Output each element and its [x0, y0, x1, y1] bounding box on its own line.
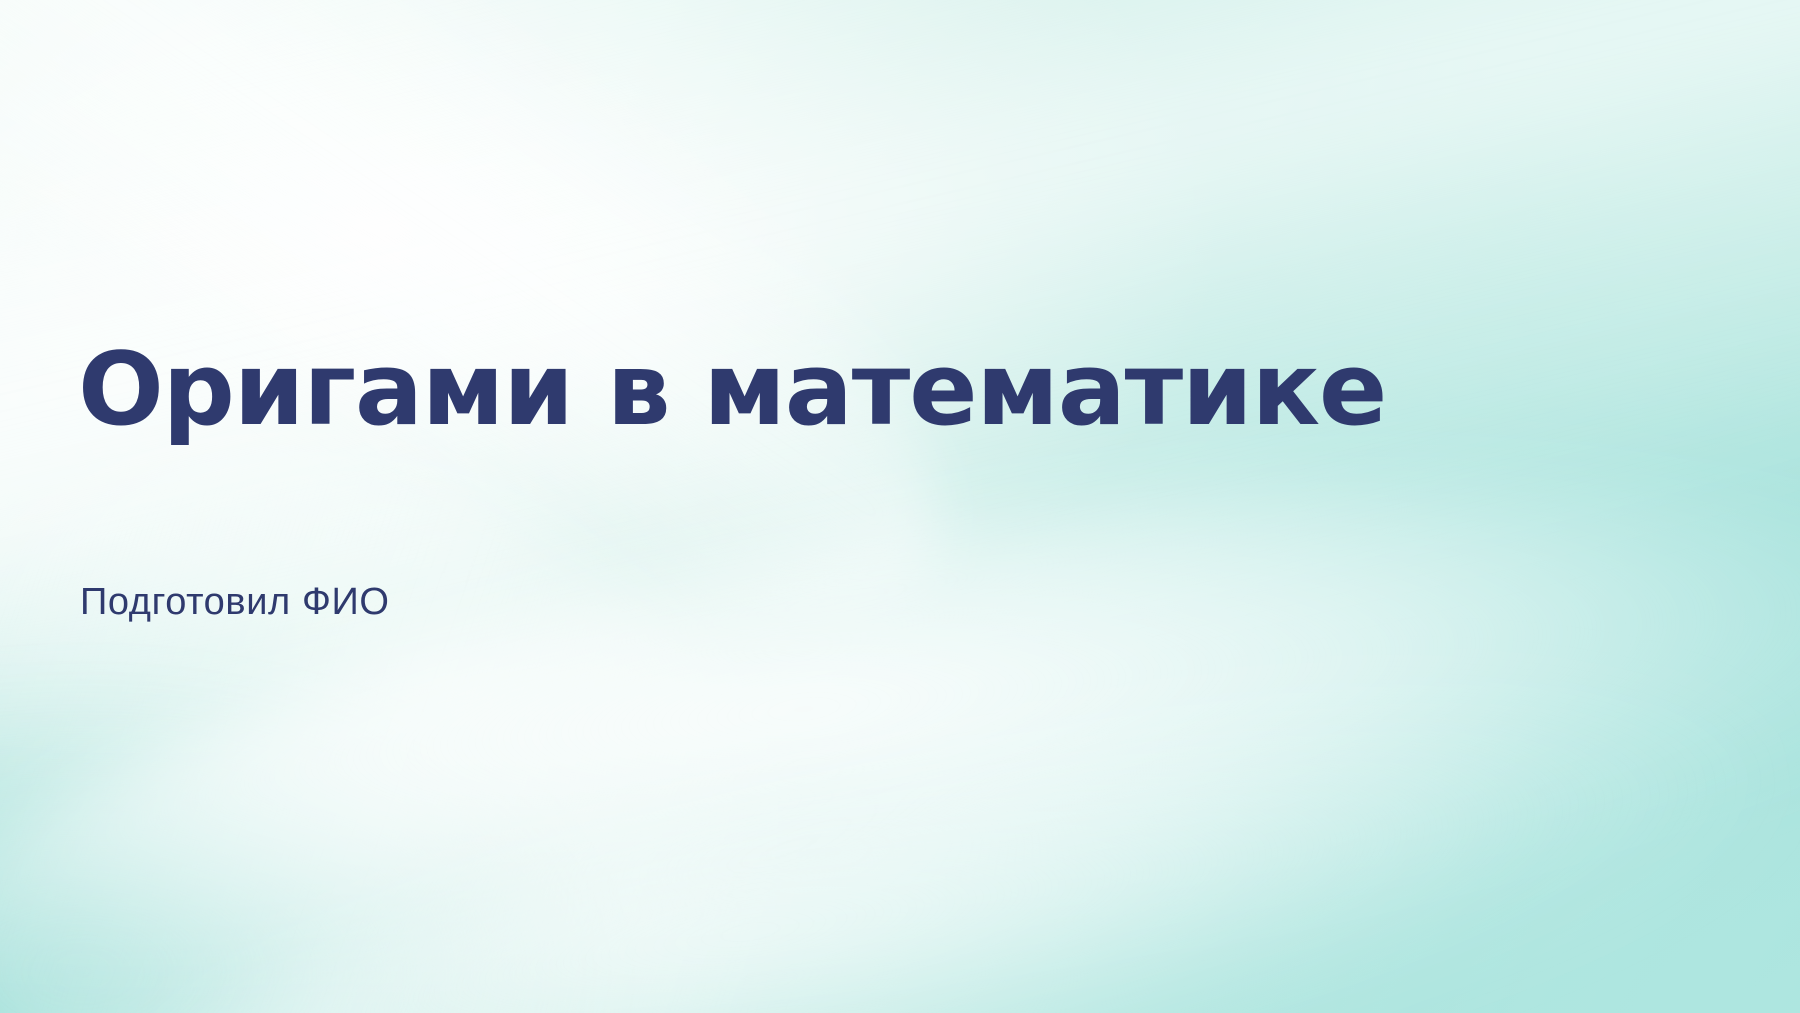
- slide-title: Оригами в математике: [78, 330, 1386, 449]
- slide-content: Оригами в математике Подготовил ФИО: [78, 0, 1578, 1013]
- title-slide: Оригами в математике Подготовил ФИО: [0, 0, 1800, 1013]
- slide-subtitle: Подготовил ФИО: [80, 580, 390, 626]
